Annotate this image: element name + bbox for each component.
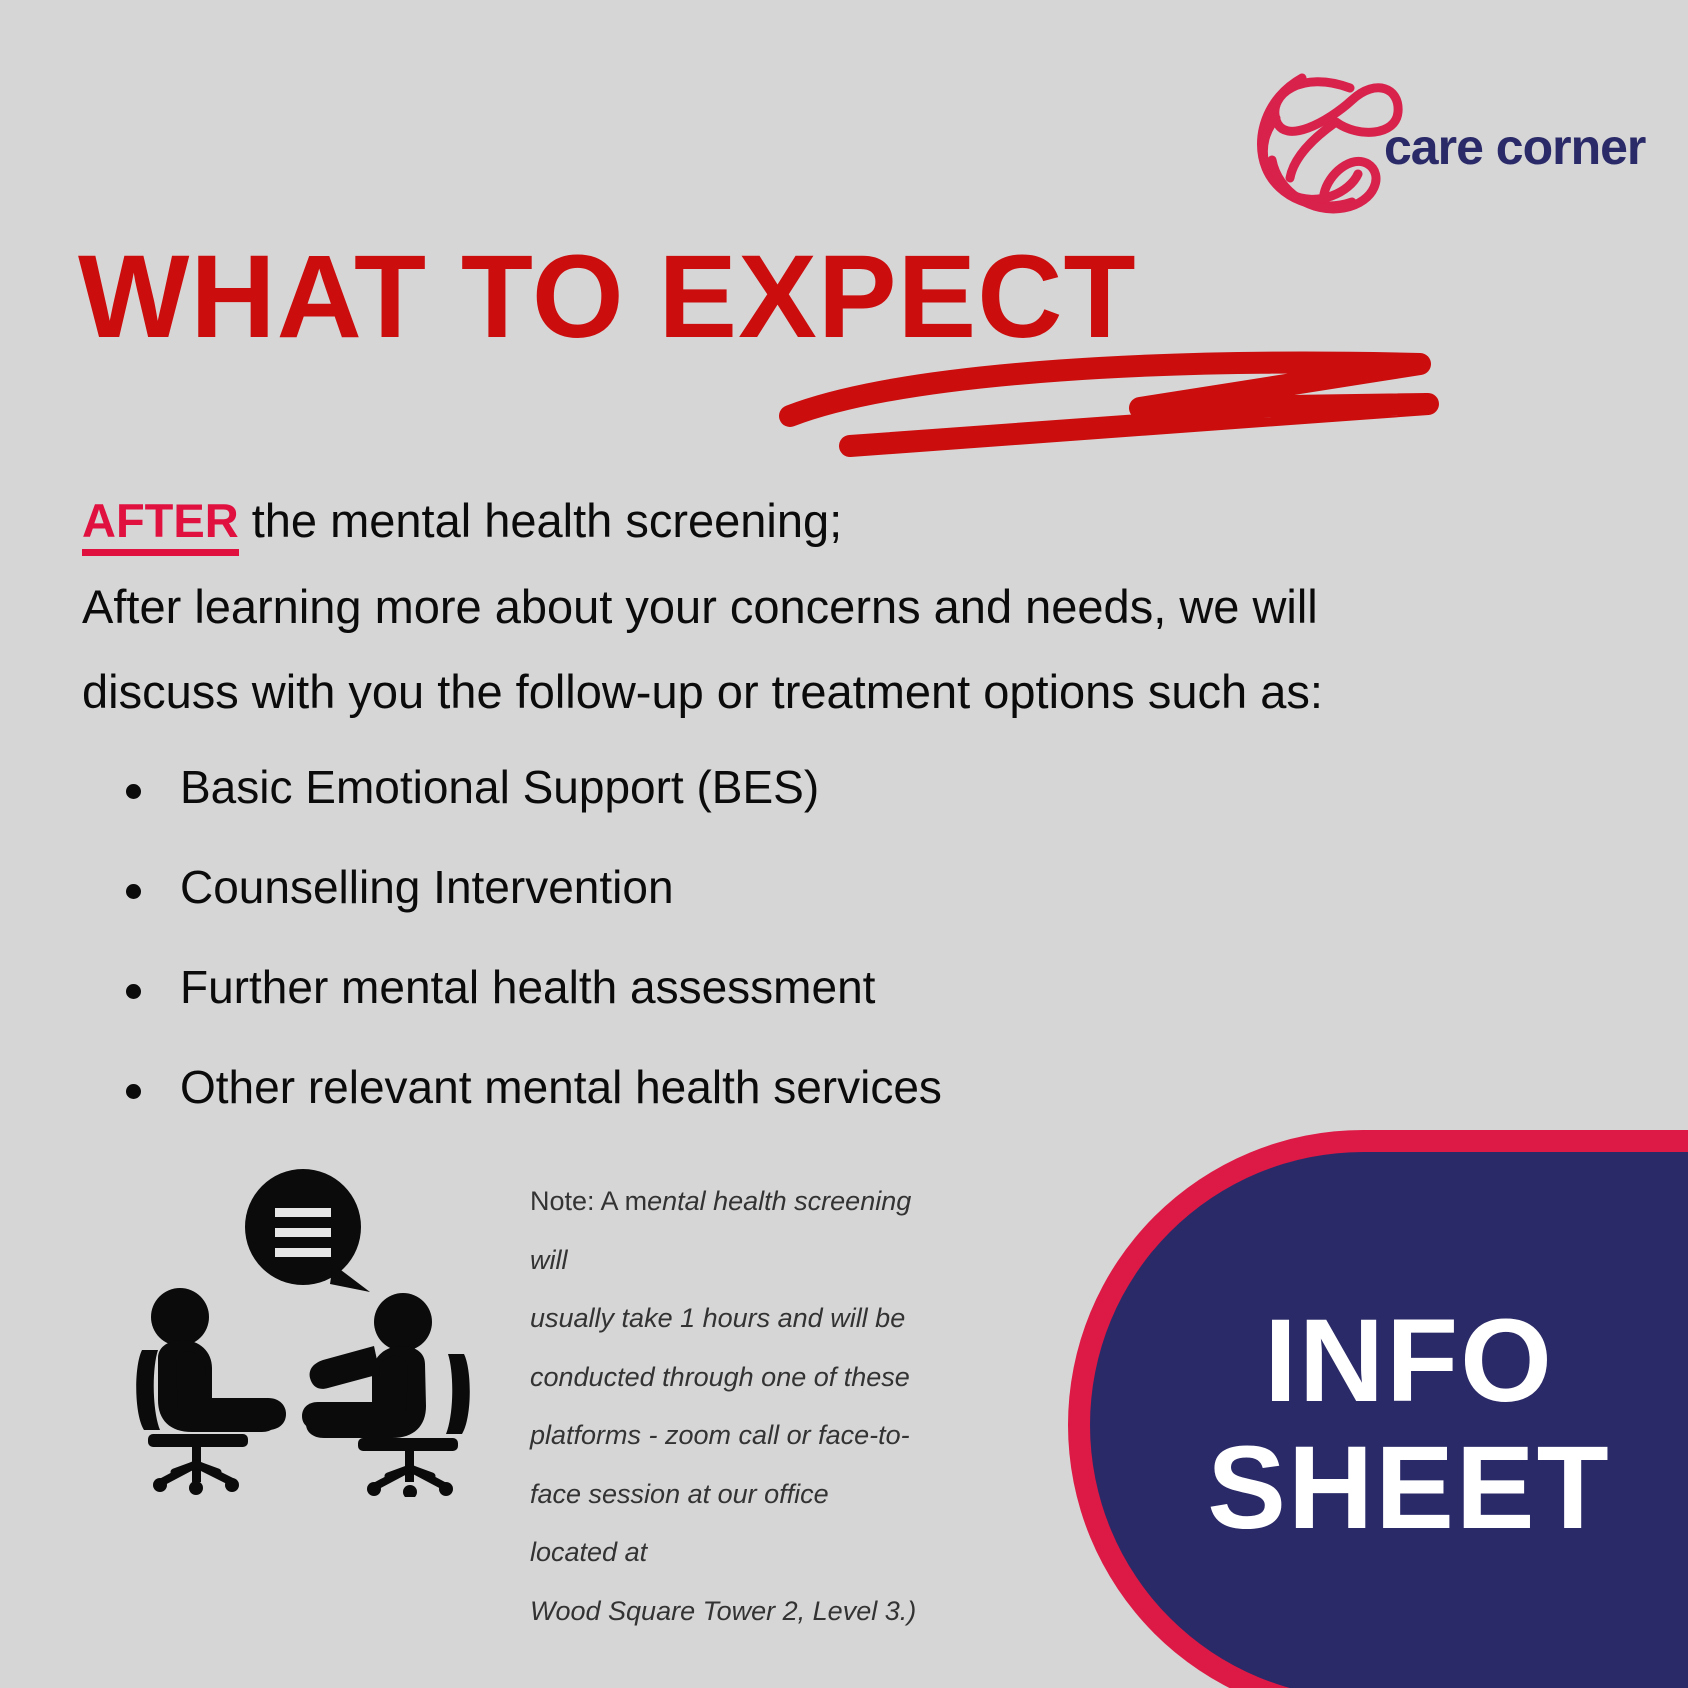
list-item-label: Counselling Intervention <box>180 861 674 913</box>
badge-line-sheet: SHEET <box>1207 1425 1610 1552</box>
note-line-5: face session at our office located at <box>530 1465 922 1582</box>
bullet-dot-icon <box>126 1084 141 1099</box>
badge-line-info: INFO <box>1264 1298 1554 1425</box>
list-item: Other relevant mental health services <box>118 1060 1318 1114</box>
red-scribble-underline-icon <box>760 340 1460 480</box>
brand-logo: care corner <box>1232 52 1532 232</box>
bullet-dot-icon <box>126 884 141 899</box>
body-copy: AFTER the mental health screening; After… <box>82 478 1442 735</box>
list-item-label: Further mental health assessment <box>180 961 875 1013</box>
paragraph-line-1: After learning more about your concerns … <box>82 564 1442 650</box>
note-line-2: usually take 1 hours and will be <box>530 1289 922 1348</box>
note-block: Note: A mental health screening will usu… <box>530 1172 922 1641</box>
lead-rest: the mental health screening; <box>239 494 843 547</box>
after-emphasis: AFTER <box>82 494 239 556</box>
bullet-dot-icon <box>126 784 141 799</box>
note-line-1: Note: A mental health screening will <box>530 1172 922 1289</box>
info-sheet-poster: care corner WHAT TO EXPECT AFTER the men… <box>0 0 1688 1688</box>
list-item-label: Basic Emotional Support (BES) <box>180 761 819 813</box>
logo-wordmark: care corner <box>1384 118 1645 176</box>
options-list: Basic Emotional Support (BES) Counsellin… <box>118 760 1318 1160</box>
note-lead: Note: A m <box>530 1186 647 1216</box>
two-people-counselling-session-icon <box>118 1152 488 1497</box>
list-item-label: Other relevant mental health services <box>180 1061 942 1113</box>
lead-line: AFTER the mental health screening; <box>82 478 1442 564</box>
info-sheet-badge: INFO SHEET <box>1068 1130 1688 1688</box>
note-line-4: platforms - zoom call or face-to- <box>530 1406 922 1465</box>
list-item: Counselling Intervention <box>118 860 1318 914</box>
note-line-6: Wood Square Tower 2, Level 3.) <box>530 1582 922 1641</box>
bullet-dot-icon <box>126 984 141 999</box>
paragraph-line-2: discuss with you the follow-up or treatm… <box>82 649 1442 735</box>
note-line-3: conducted through one of these <box>530 1348 922 1407</box>
page-title: WHAT TO EXPECT <box>78 238 1137 356</box>
list-item: Basic Emotional Support (BES) <box>118 760 1318 814</box>
list-item: Further mental health assessment <box>118 960 1318 1014</box>
